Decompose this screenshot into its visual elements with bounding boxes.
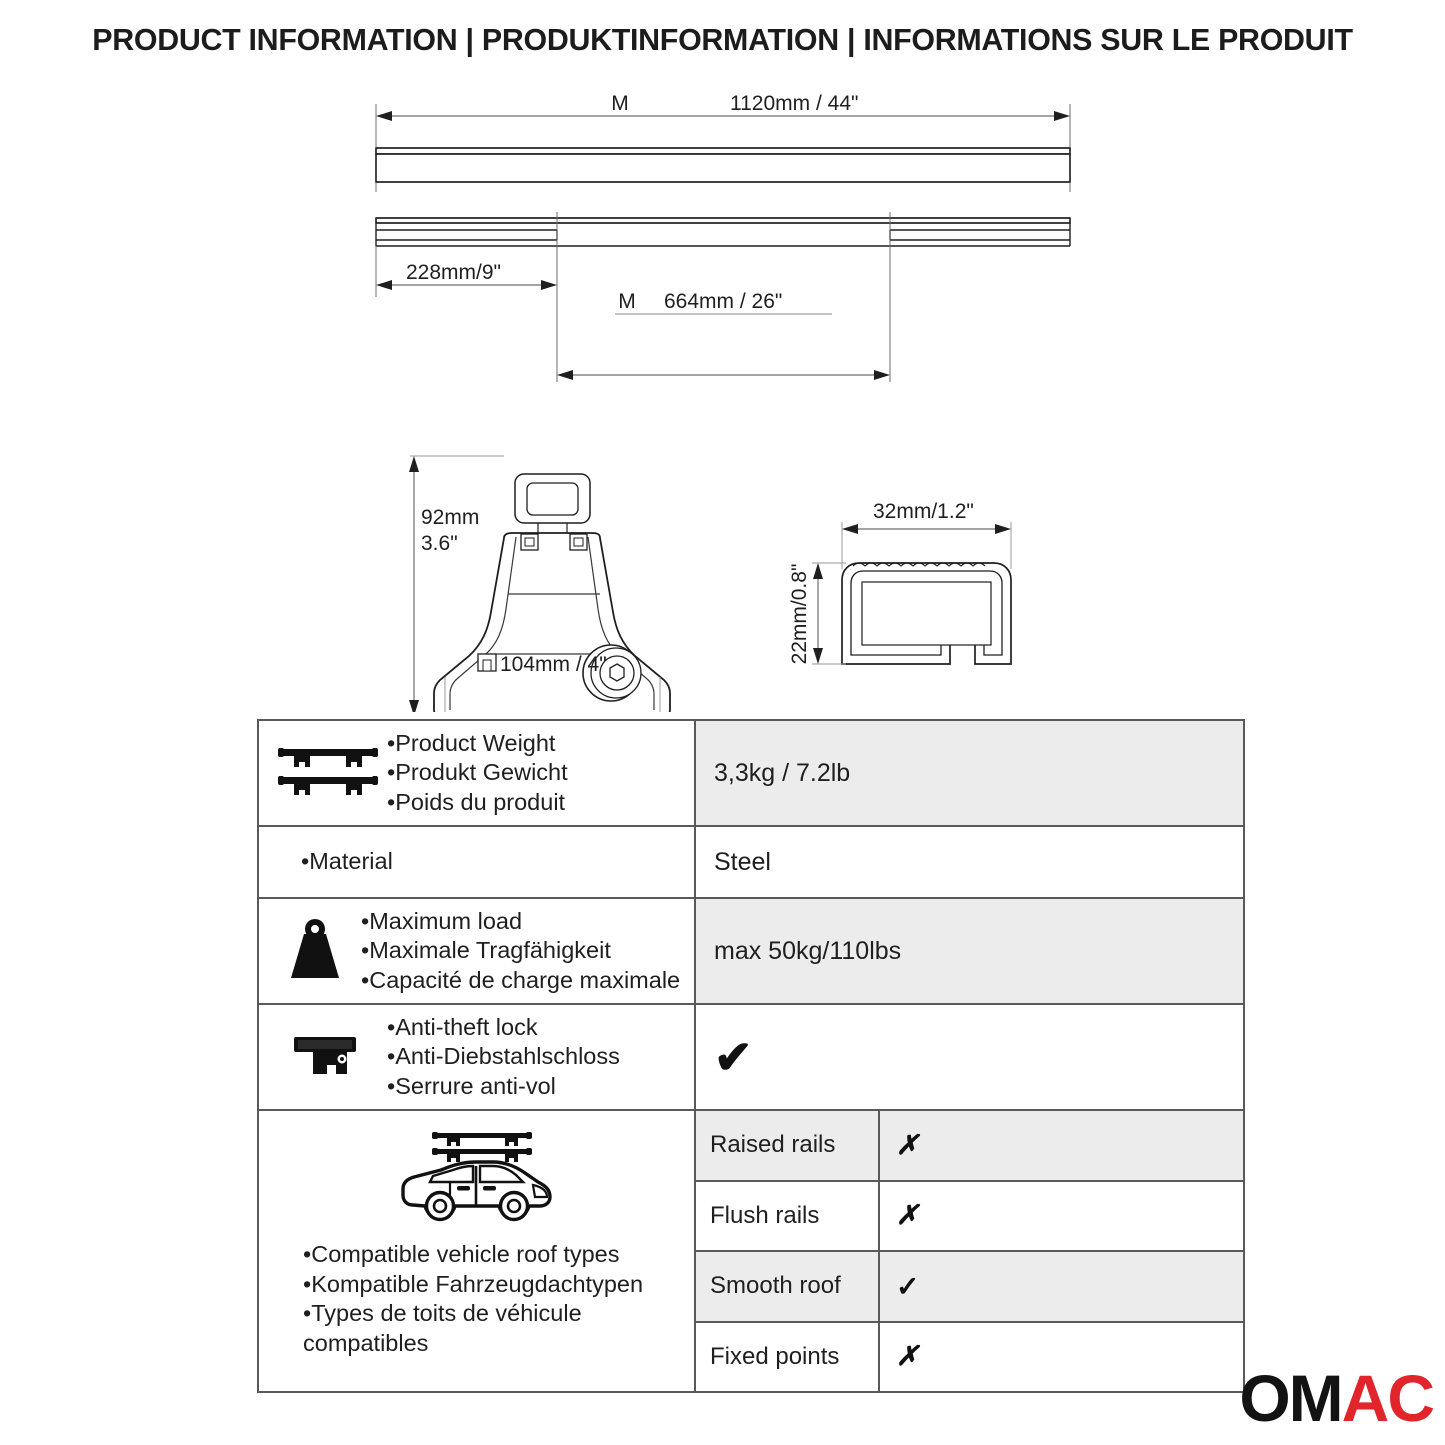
spec-label-de: •Anti-Diebstahlschloss: [387, 1042, 620, 1071]
roof-bars-icon: [269, 744, 387, 802]
cross-icon: ✗: [896, 1130, 919, 1161]
logo-text-black: OM: [1239, 1361, 1341, 1435]
table-row: •Maximum load •Maximale Tragfähigkeit •C…: [259, 899, 1243, 1005]
dim-spread-prefix: M: [618, 290, 636, 313]
list-item: Smooth roof ✓: [696, 1252, 1243, 1323]
car-with-rack-icon: [397, 1127, 557, 1230]
dim-foot-width: 104mm / 4": [500, 653, 607, 676]
compatibility-labels: •Compatible vehicle roof types •Kompatib…: [259, 1240, 694, 1358]
compat-label-en: •Compatible vehicle roof types: [303, 1240, 694, 1270]
roof-type-value: ✗: [880, 1182, 1243, 1251]
weight-icon: [269, 918, 361, 984]
spec-label-fr: •Poids du produit: [387, 788, 568, 817]
roof-type-name: Flush rails: [696, 1182, 880, 1251]
compat-label-fr: •Types de toits de véhicule compatibles: [303, 1299, 694, 1358]
dim-spread: 664mm / 26": [664, 290, 782, 313]
spec-label-en: •Anti-theft lock: [387, 1013, 620, 1042]
spec-value-product-weight: 3,3kg / 7.2lb: [696, 721, 1243, 825]
dim-foot-height-line1: 92mm: [421, 506, 479, 529]
spec-label-de: •Maximale Tragfähigkeit: [361, 936, 680, 965]
dim-bar-length: 1120mm / 44": [730, 92, 858, 115]
dim-profile-height: 22mm/0.8": [788, 564, 811, 665]
technical-drawing: M 1120mm / 44" 228mm/9" M 664mm / 26" 92…: [0, 82, 1445, 712]
brand-logo: OMAC: [1239, 1365, 1433, 1431]
cross-icon: ✗: [896, 1200, 919, 1231]
spec-label-cell: •Material: [259, 827, 696, 897]
spec-value-max-load: max 50kg/110lbs: [696, 899, 1243, 1003]
spec-label-fr: •Capacité de charge maximale: [361, 966, 680, 995]
page-title: PRODUCT INFORMATION | PRODUKTINFORMATION…: [14, 22, 1430, 58]
dim-bar-length-prefix: M: [611, 92, 629, 115]
spec-label-cell: •Product Weight •Produkt Gewicht •Poids …: [259, 721, 696, 825]
check-icon: ✔: [714, 1034, 753, 1080]
roof-type-value: ✓: [880, 1252, 1243, 1321]
spec-labels: •Product Weight •Produkt Gewicht •Poids …: [387, 729, 568, 816]
spec-labels: •Material: [269, 847, 393, 876]
table-row: •Material Steel: [259, 827, 1243, 899]
spec-labels: •Maximum load •Maximale Tragfähigkeit •C…: [361, 907, 680, 994]
list-item: Raised rails ✗: [696, 1111, 1243, 1182]
roof-type-value: ✗: [880, 1323, 1243, 1392]
compatibility-label-cell: •Compatible vehicle roof types •Kompatib…: [259, 1111, 696, 1391]
compatibility-list: Raised rails ✗ Flush rails ✗ Smooth roof…: [696, 1111, 1243, 1391]
spec-label-en: •Product Weight: [387, 729, 568, 758]
list-item: Flush rails ✗: [696, 1182, 1243, 1253]
spec-labels: •Anti-theft lock •Anti-Diebstahlschloss …: [387, 1013, 620, 1100]
check-icon: ✓: [896, 1270, 919, 1303]
list-item: Fixed points ✗: [696, 1323, 1243, 1392]
spec-label-en: •Maximum load: [361, 907, 680, 936]
dim-foot-height-line2: 3.6": [421, 532, 458, 555]
roof-type-name: Fixed points: [696, 1323, 880, 1392]
spec-value-material: Steel: [696, 827, 1243, 897]
roof-type-value: ✗: [880, 1111, 1243, 1180]
spec-label-de: •Produkt Gewicht: [387, 758, 568, 787]
table-row: •Product Weight •Produkt Gewicht •Poids …: [259, 721, 1243, 827]
cross-icon: ✗: [896, 1341, 919, 1372]
roof-type-name: Smooth roof: [696, 1252, 880, 1321]
table-row: •Anti-theft lock •Anti-Diebstahlschloss …: [259, 1005, 1243, 1111]
compat-label-de: •Kompatible Fahrzeugdachtypen: [303, 1270, 694, 1300]
lock-icon: [269, 1031, 387, 1083]
spec-value-anti-theft: ✔: [696, 1005, 1243, 1109]
spec-label-cell: •Anti-theft lock •Anti-Diebstahlschloss …: [259, 1005, 696, 1109]
roof-type-name: Raised rails: [696, 1111, 880, 1180]
specification-table: •Product Weight •Produkt Gewicht •Poids …: [257, 719, 1245, 1393]
spec-label-material: •Material: [301, 847, 393, 876]
dim-profile-width: 32mm/1.2": [873, 500, 974, 523]
table-row-compatibility: •Compatible vehicle roof types •Kompatib…: [259, 1111, 1243, 1391]
spec-label-cell: •Maximum load •Maximale Tragfähigkeit •C…: [259, 899, 696, 1003]
dim-foot-offset: 228mm/9": [406, 261, 501, 284]
logo-text-red: AC: [1342, 1361, 1433, 1435]
spec-label-fr: •Serrure anti-vol: [387, 1072, 620, 1101]
